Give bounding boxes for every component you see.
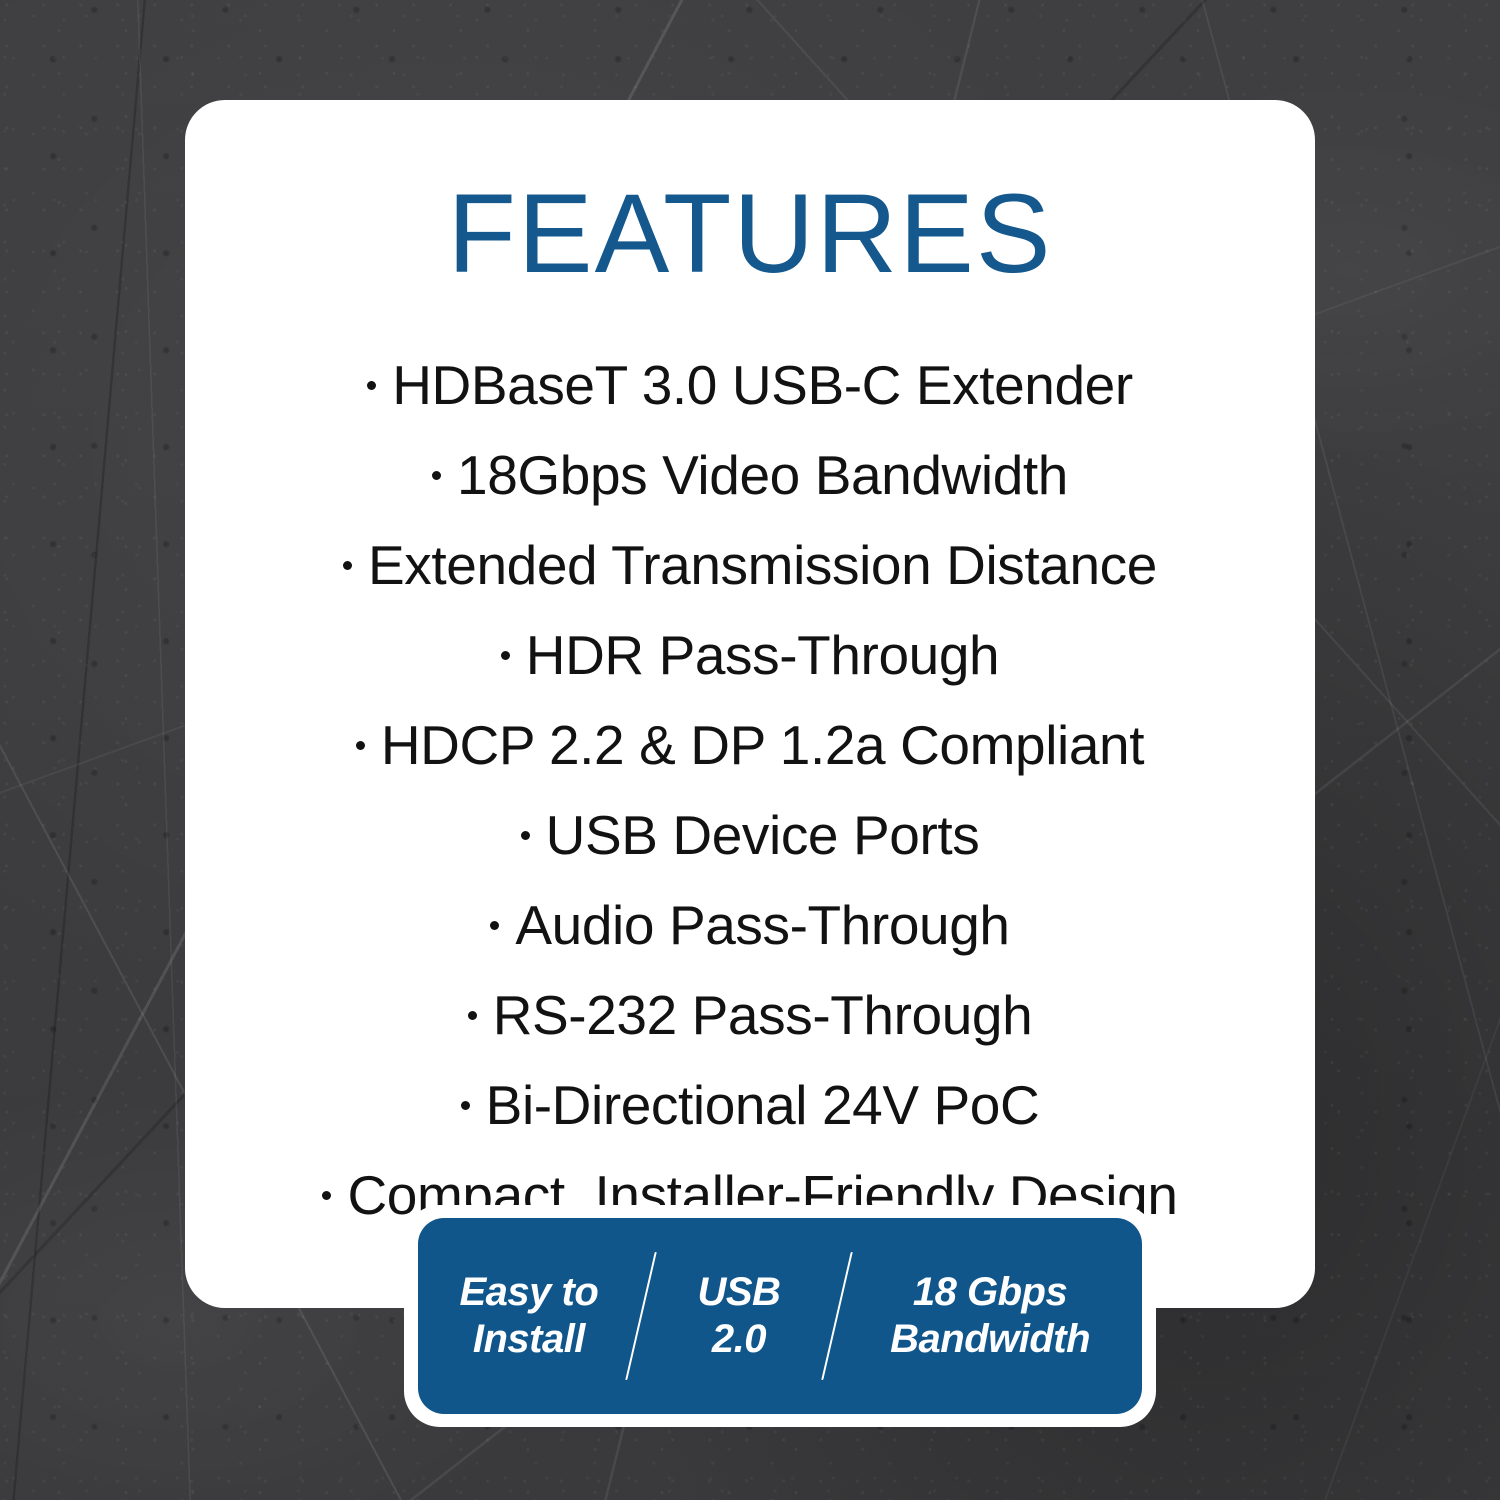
bullet-icon (501, 651, 510, 660)
list-item: Extended Transmission Distance (185, 520, 1315, 610)
badge-bar-outline: Easy to Install USB 2.0 18 Gbps Bandwidt… (404, 1205, 1156, 1427)
feature-label: RS-232 Pass-Through (493, 984, 1033, 1046)
badge-easy-to-install: Easy to Install (418, 1218, 640, 1414)
bullet-icon (322, 1191, 331, 1200)
list-item: Bi-Directional 24V PoC (185, 1060, 1315, 1150)
list-item: HDBaseT 3.0 USB-C Extender (185, 340, 1315, 430)
bullet-icon (367, 381, 376, 390)
bullet-icon (356, 741, 365, 750)
list-item: RS-232 Pass-Through (185, 970, 1315, 1060)
features-card: FEATURES HDBaseT 3.0 USB-C Extender 18Gb… (185, 100, 1315, 1308)
bullet-icon (461, 1101, 470, 1110)
list-item: HDCP 2.2 & DP 1.2a Compliant (185, 700, 1315, 790)
page-title: FEATURES (447, 178, 1052, 290)
feature-label: USB Device Ports (546, 804, 980, 866)
feature-label: Bi-Directional 24V PoC (486, 1074, 1040, 1136)
feature-label: HDR Pass-Through (526, 624, 999, 686)
badge-bar: Easy to Install USB 2.0 18 Gbps Bandwidt… (418, 1218, 1142, 1414)
feature-label: HDCP 2.2 & DP 1.2a Compliant (381, 714, 1144, 776)
feature-label: Audio Pass-Through (515, 894, 1009, 956)
features-list: HDBaseT 3.0 USB-C Extender 18Gbps Video … (185, 340, 1315, 1240)
list-item: 18Gbps Video Bandwidth (185, 430, 1315, 520)
badge-usb-version: USB 2.0 (642, 1218, 836, 1414)
list-item: Audio Pass-Through (185, 880, 1315, 970)
feature-label: HDBaseT 3.0 USB-C Extender (392, 354, 1133, 416)
badge-label: Easy to Install (459, 1269, 598, 1363)
features-card-content: FEATURES HDBaseT 3.0 USB-C Extender 18Gb… (185, 100, 1315, 1308)
bullet-icon (468, 1011, 477, 1020)
bullet-icon (490, 921, 499, 930)
badge-bandwidth: 18 Gbps Bandwidth (838, 1218, 1142, 1414)
list-item: USB Device Ports (185, 790, 1315, 880)
bullet-icon (432, 471, 441, 480)
feature-label: Extended Transmission Distance (368, 534, 1157, 596)
feature-label: 18Gbps Video Bandwidth (457, 444, 1068, 506)
list-item: HDR Pass-Through (185, 610, 1315, 700)
bullet-icon (343, 561, 352, 570)
badge-label: USB 2.0 (697, 1269, 780, 1363)
badge-label: 18 Gbps Bandwidth (890, 1269, 1090, 1363)
bullet-icon (521, 831, 530, 840)
